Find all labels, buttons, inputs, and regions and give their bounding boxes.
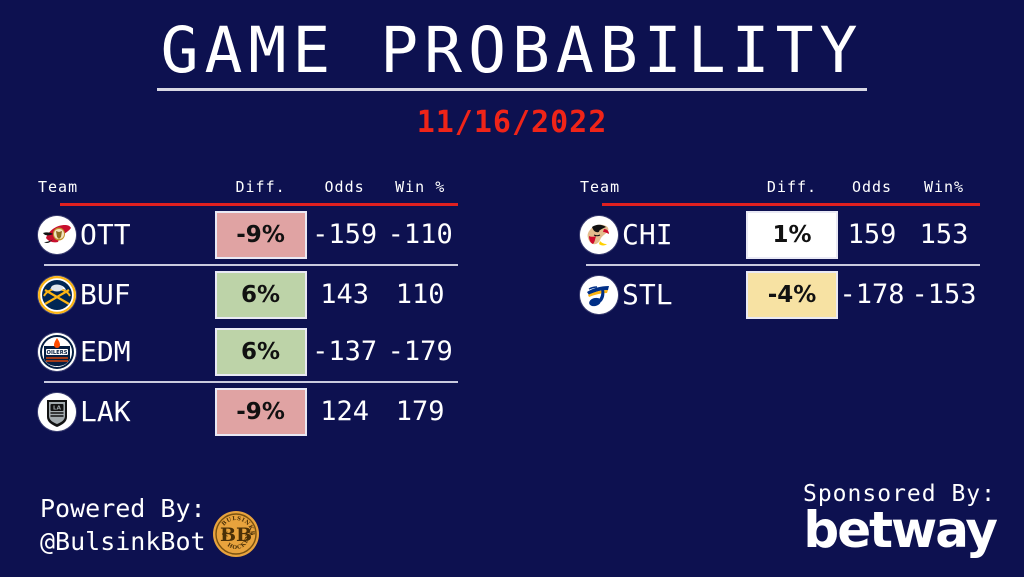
- team-abbr: STL: [622, 278, 673, 311]
- team-abbr: CHI: [622, 218, 673, 251]
- diff-cell: -9%: [214, 211, 306, 259]
- column-header-diff: Diff.: [214, 178, 306, 203]
- team-cell: BUF: [38, 276, 214, 314]
- team-cell: OILERS EDM: [38, 333, 214, 371]
- team-abbr: OTT: [80, 218, 131, 251]
- header: GAME PROBABILITY 11/16/2022: [0, 0, 1024, 140]
- right-table: Team Diff. Odds Win%: [580, 178, 980, 323]
- table-row[interactable]: STL -4% -178 -153: [580, 266, 980, 323]
- bulsinkbot-logo-icon: BB < > BULSINKBOT HOCKEY: [212, 510, 260, 558]
- diff-cell: 6%: [214, 271, 306, 319]
- svg-text:LA: LA: [53, 405, 62, 411]
- diff-cell: -9%: [214, 388, 306, 436]
- kings-logo: LA: [38, 393, 76, 431]
- odds-value: 143: [307, 266, 383, 323]
- betway-logo: betway: [803, 505, 996, 555]
- column-header-team: Team: [38, 178, 214, 203]
- team-cell: STL: [580, 276, 748, 314]
- win-value: 153: [908, 206, 980, 263]
- sponsored-by-block: Sponsored By: betway: [803, 481, 996, 555]
- blues-logo: [580, 276, 618, 314]
- column-header-team: Team: [580, 178, 748, 203]
- diff-cell: -4%: [748, 271, 836, 319]
- table-row[interactable]: CHI 1% 159 153: [580, 206, 980, 263]
- page-date: 11/16/2022: [0, 105, 1024, 140]
- odds-value: -137: [307, 323, 383, 380]
- tables-container: Team Diff. Odds Win %: [0, 178, 1024, 440]
- powered-by-text: Powered By: @BulsinkBot: [40, 492, 206, 560]
- win-value: -110: [382, 206, 458, 263]
- oilers-logo: OILERS: [38, 333, 76, 371]
- odds-value: -159: [307, 206, 383, 263]
- powered-by-block: Powered By: @BulsinkBot BB < > BULSINKBO…: [40, 492, 260, 560]
- column-header-odds: Odds: [836, 178, 908, 203]
- table-header-row: Team Diff. Odds Win %: [38, 178, 458, 203]
- odds-value: 159: [836, 206, 908, 263]
- sabres-logo: [38, 276, 76, 314]
- blackhawks-logo: [580, 216, 618, 254]
- column-header-win: Win%: [908, 178, 980, 203]
- team-cell: OTT: [38, 216, 214, 254]
- team-abbr: LAK: [80, 395, 131, 428]
- win-value: -153: [908, 266, 980, 323]
- table-row[interactable]: BUF 6% 143 110: [38, 266, 458, 323]
- win-value: 179: [382, 383, 458, 440]
- team-cell: LA LAK: [38, 393, 214, 431]
- diff-cell: 1%: [748, 211, 836, 259]
- win-value: -179: [382, 323, 458, 380]
- page-title: GAME PROBABILITY: [157, 18, 868, 91]
- table-header-row: Team Diff. Odds Win%: [580, 178, 980, 203]
- table-row[interactable]: OILERS EDM 6% -137 -179: [38, 323, 458, 380]
- powered-by-line1: Powered By:: [40, 492, 206, 526]
- diff-cell: 6%: [214, 328, 306, 376]
- column-header-diff: Diff.: [748, 178, 836, 203]
- team-abbr: BUF: [80, 278, 131, 311]
- column-header-win: Win %: [382, 178, 458, 203]
- left-table: Team Diff. Odds Win %: [38, 178, 458, 440]
- odds-value: 124: [307, 383, 383, 440]
- win-value: 110: [382, 266, 458, 323]
- team-cell: CHI: [580, 216, 748, 254]
- diff-badge: -9%: [215, 211, 307, 259]
- odds-value: -178: [836, 266, 908, 323]
- diff-badge: 6%: [215, 328, 307, 376]
- svg-text:OILERS: OILERS: [47, 350, 68, 356]
- diff-badge: -4%: [746, 271, 838, 319]
- diff-badge: 1%: [746, 211, 838, 259]
- powered-by-line2: @BulsinkBot: [40, 525, 206, 559]
- diff-badge: -9%: [215, 388, 307, 436]
- team-abbr: EDM: [80, 335, 131, 368]
- svg-text:<: <: [221, 530, 229, 540]
- left-table-panel: Team Diff. Odds Win %: [38, 178, 458, 440]
- column-header-odds: Odds: [307, 178, 383, 203]
- senators-logo: [38, 216, 76, 254]
- table-row[interactable]: OTT -9% -159 -110: [38, 206, 458, 263]
- table-row[interactable]: LA LAK -9% 124 179: [38, 383, 458, 440]
- diff-badge: 6%: [215, 271, 307, 319]
- right-table-panel: Team Diff. Odds Win%: [580, 178, 980, 440]
